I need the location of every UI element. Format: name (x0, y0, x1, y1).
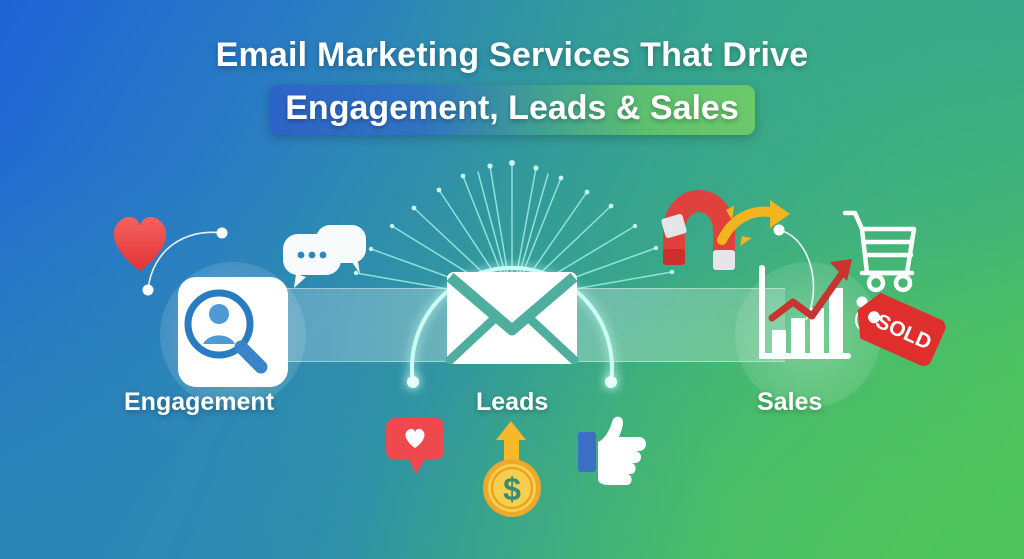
heart-notification-icon (386, 418, 444, 474)
bottom-decor-group: $ (0, 0, 1024, 559)
email-marketing-banner: Email Marketing Services That Drive Enga… (0, 0, 1024, 559)
thumbs-up-icon (578, 417, 646, 485)
up-arrow-icon (496, 421, 526, 464)
svg-text:$: $ (503, 471, 521, 507)
dollar-coin-icon: $ (483, 459, 541, 517)
stage-label-sales: Sales (757, 388, 822, 417)
stage-label-engagement: Engagement (124, 388, 274, 417)
stage-label-leads: Leads (476, 388, 548, 417)
